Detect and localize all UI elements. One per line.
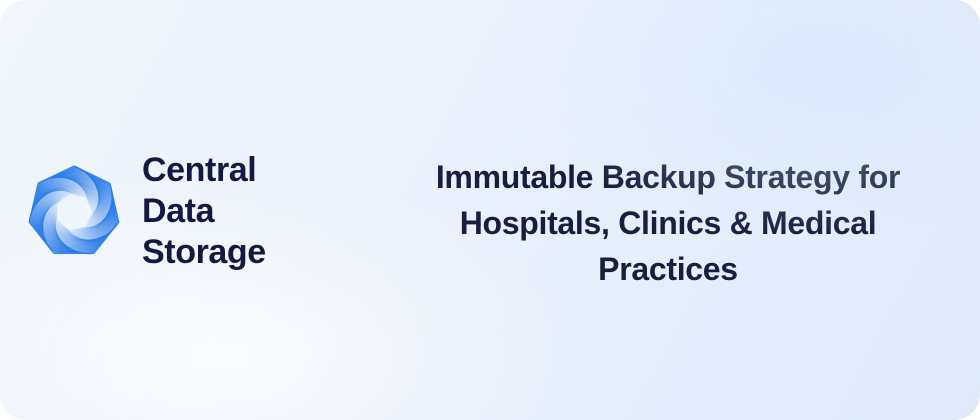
page-title-line-2: Hospitals, Clinics & Medical	[460, 205, 877, 241]
brand-wordmark-line-2: Data	[142, 191, 266, 232]
central-data-storage-spirograph-logo-icon	[22, 156, 126, 268]
brand-wordmark-line-3: Storage	[142, 232, 266, 273]
brand-wordmark-line-1: Central	[142, 150, 266, 191]
page-title: Immutable Backup Strategy for Hospitals,…	[388, 154, 948, 292]
brand-lockup: Central Data Storage	[22, 150, 266, 273]
hero-banner: Central Data Storage Immutable Backup St…	[0, 0, 980, 420]
page-title-line-1: Immutable Backup Strategy for	[436, 159, 900, 195]
brand-wordmark: Central Data Storage	[142, 150, 266, 273]
page-title-line-3: Practices	[598, 251, 738, 287]
